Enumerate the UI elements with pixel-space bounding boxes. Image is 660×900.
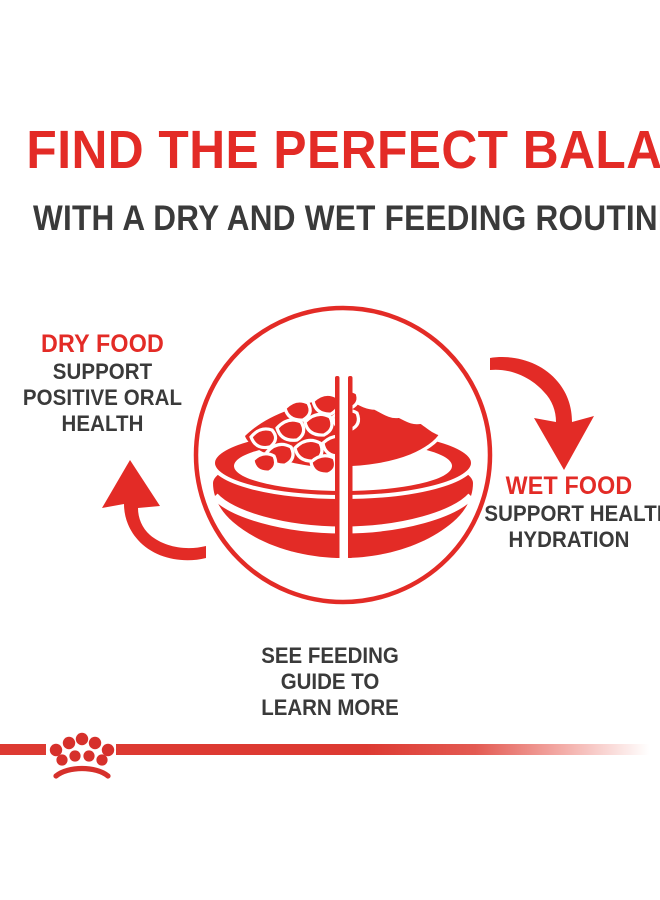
dry-food-desc-line-2: POSITIVE ORAL (7, 385, 198, 411)
page-subheadline: WITH A DRY AND WET FEEDING ROUTINE (33, 200, 627, 238)
dry-food-label-block: DRY FOOD SUPPORT POSITIVE ORAL HEALTH (0, 330, 205, 437)
wet-food-label-block: WET FOOD SUPPORT HEALTHY HYDRATION (478, 472, 660, 553)
see-feeding-guide-note: SEE FEEDING GUIDE TO LEARN MORE (23, 643, 637, 721)
wet-food-description: SUPPORT HEALTHY HYDRATION (484, 501, 653, 553)
page-headline: FIND THE PERFECT BALANCE (26, 122, 633, 178)
curved-arrow-up-left-icon (78, 450, 208, 570)
see-guide-line-2: GUIDE TO (23, 669, 637, 695)
infographic-page: FIND THE PERFECT BALANCE WITH A DRY AND … (0, 0, 660, 900)
see-guide-line-1: SEE FEEDING (23, 643, 637, 669)
dry-food-description: SUPPORT POSITIVE ORAL HEALTH (7, 359, 198, 437)
band-segment-right (116, 744, 660, 755)
footer-divider-band (0, 728, 660, 780)
royal-canin-crown-logo (48, 728, 116, 780)
wet-food-desc-line-1: SUPPORT HEALTHY (484, 501, 653, 527)
band-segment-left (0, 744, 46, 755)
curved-arrow-down-right-icon (488, 352, 623, 482)
see-guide-line-3: LEARN MORE (23, 695, 637, 721)
dry-food-title: DRY FOOD (7, 330, 198, 359)
wet-food-desc-line-2: HYDRATION (484, 527, 653, 553)
dry-food-desc-line-1: SUPPORT (7, 359, 198, 385)
dry-food-desc-line-3: HEALTH (7, 411, 198, 437)
pet-food-bowl-icon (185, 300, 505, 612)
